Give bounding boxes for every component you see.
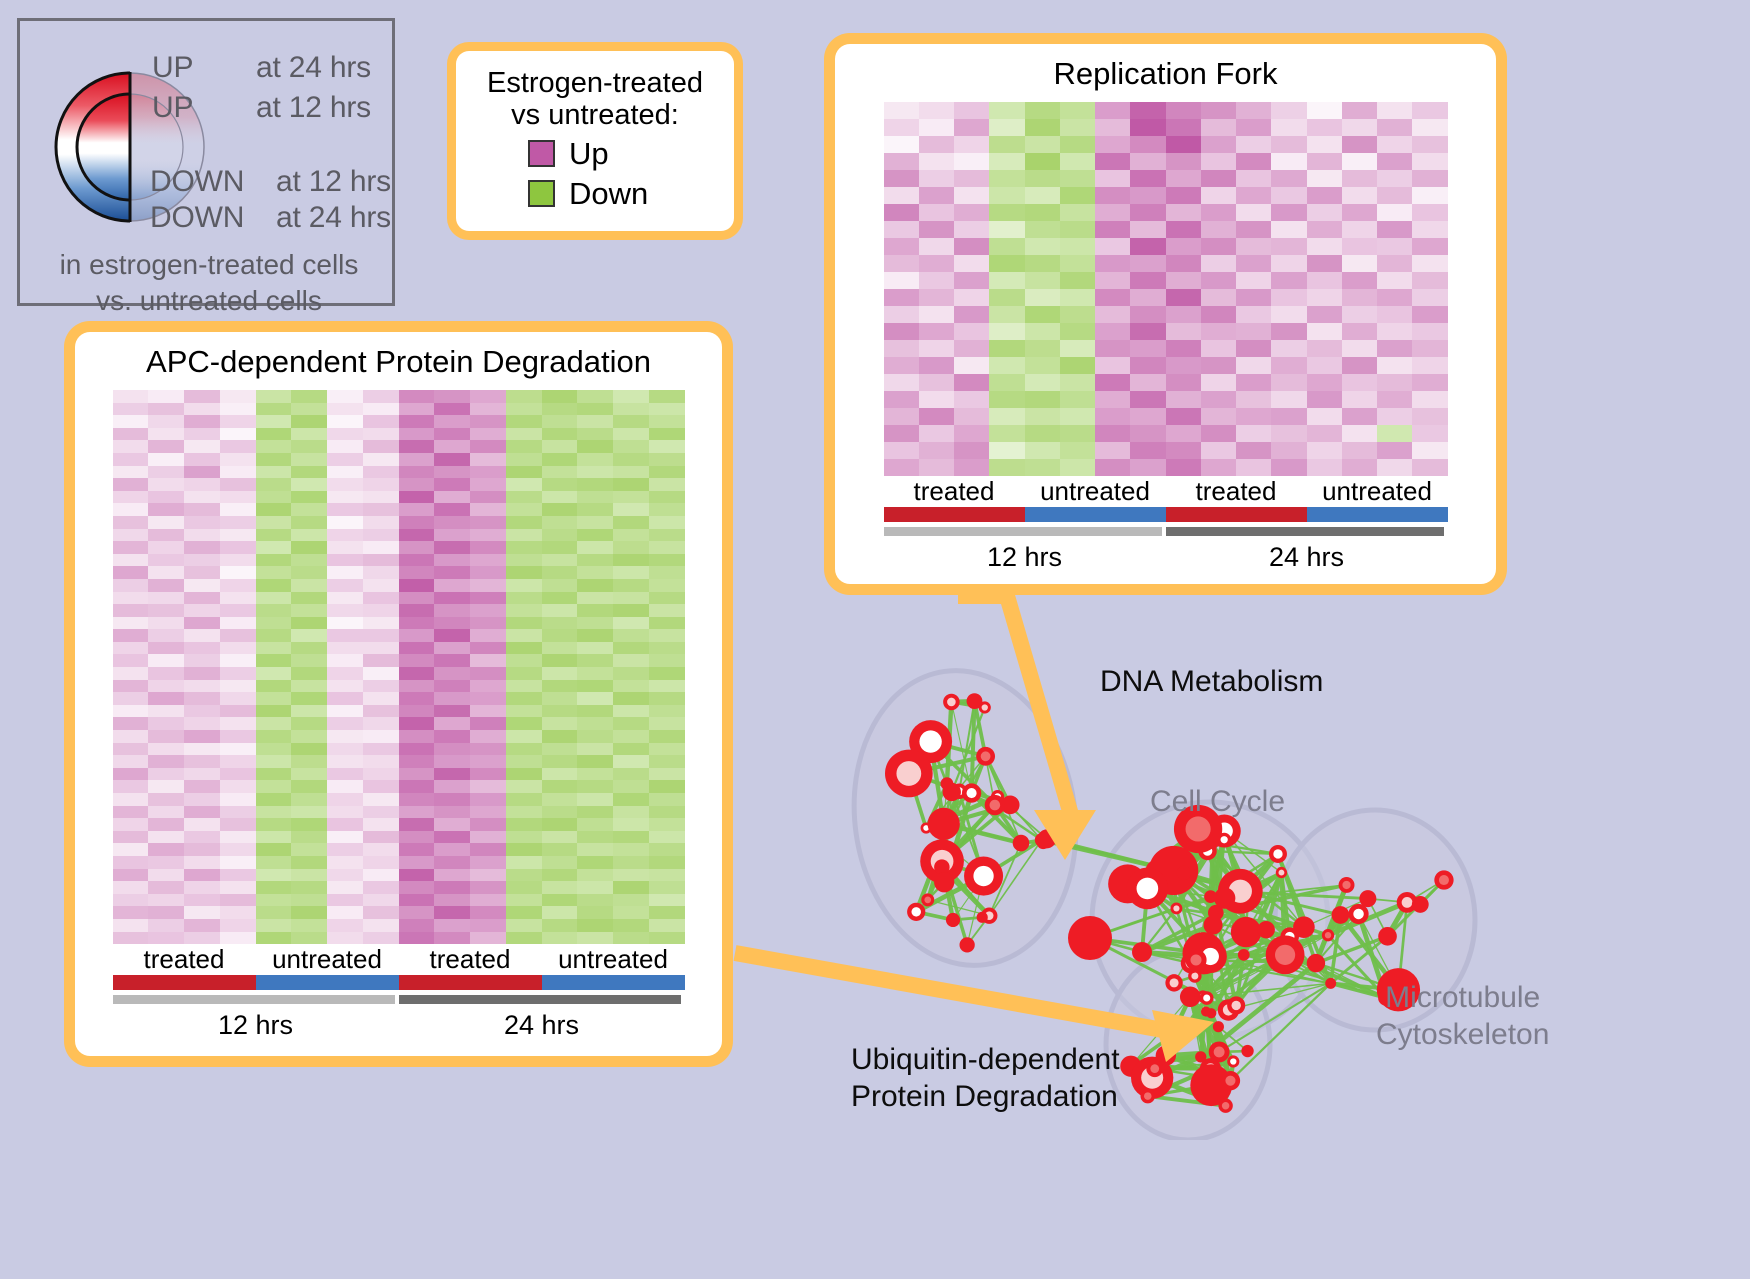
heatmap-cell: [291, 806, 327, 819]
heatmap-cell: [399, 919, 435, 932]
legend-item-up: Up: [528, 136, 720, 172]
heatmap-cell: [1060, 408, 1095, 425]
heatmap-cell: [113, 617, 149, 630]
heatmap-cell: [327, 516, 363, 529]
heatmap-cell: [291, 894, 327, 907]
heatmap-cell: [434, 793, 470, 806]
heatmap-cell: [1307, 136, 1342, 153]
heatmap-cell: [1166, 459, 1201, 476]
heatmap-cell: [399, 705, 435, 718]
heatmap-cell: [1201, 374, 1236, 391]
heatmap-cell: [148, 755, 184, 768]
heatmap-cell: [184, 692, 220, 705]
heatmap-cell: [542, 541, 578, 554]
heatmap-cell: [613, 894, 649, 907]
heatmap-cell: [470, 642, 506, 655]
heatmap-cell: [256, 604, 292, 617]
heatmap-cell: [1166, 408, 1201, 425]
heatmap-cell: [954, 289, 989, 306]
heatmap-cell: [884, 102, 919, 119]
heatmap-cell: [184, 604, 220, 617]
heatmap-cell: [989, 119, 1024, 136]
heatmap-cell: [577, 604, 613, 617]
heatmap-cell: [884, 391, 919, 408]
heatmap-cell: [1025, 187, 1060, 204]
heatmap-cell: [884, 204, 919, 221]
heatmap-cell: [434, 503, 470, 516]
heatmap-cell: [363, 793, 399, 806]
heatmap-cell: [954, 442, 989, 459]
heatmap-cell: [184, 390, 220, 403]
heatmap-cell: [363, 881, 399, 894]
heatmap-cell: [434, 566, 470, 579]
network-node: [1068, 916, 1112, 960]
heatmap-cell: [256, 554, 292, 567]
heatmap-cell: [256, 390, 292, 403]
heatmap-cell: [649, 604, 685, 617]
heatmap-cell: [542, 780, 578, 793]
group-colour-segment: [399, 975, 542, 990]
heatmap-cell: [113, 680, 149, 693]
cluster-label-ubiquitin: Ubiquitin-dependent Protein Degradation: [851, 1042, 1120, 1115]
heatmap-cell: [506, 503, 542, 516]
heatmap-cell: [291, 617, 327, 630]
heatmap-cell: [184, 516, 220, 529]
heatmap-cell: [506, 642, 542, 655]
heatmap-cell: [256, 440, 292, 453]
heatmap-cell: [1307, 306, 1342, 323]
cluster-label-cell-cycle: Cell Cycle: [1150, 785, 1285, 819]
heatmap-cell: [1060, 170, 1095, 187]
heatmap-cell: [919, 102, 954, 119]
heatmap-cell: [148, 831, 184, 844]
heatmap-cell: [577, 415, 613, 428]
network-node: [1307, 954, 1325, 972]
heatmap-cell: [1342, 102, 1377, 119]
heatmap-cell: [1201, 442, 1236, 459]
heatmap-cell: [1201, 340, 1236, 357]
heatmap-cell: [327, 818, 363, 831]
heatmap-cell: [148, 491, 184, 504]
heatmap-cell: [613, 705, 649, 718]
heatmap-cell: [919, 442, 954, 459]
heatmap-cell: [399, 390, 435, 403]
heatmap-cell: [954, 221, 989, 238]
heatmap-cell: [1130, 306, 1165, 323]
heatmap-cell: [363, 654, 399, 667]
heatmap-cell: [919, 374, 954, 391]
heatmap-cell: [184, 793, 220, 806]
heatmap-cell: [363, 755, 399, 768]
heatmap-cell: [434, 730, 470, 743]
heatmap-cell: [1095, 187, 1130, 204]
group-colour-segment: [113, 975, 256, 990]
heatmap-cell: [470, 453, 506, 466]
heatmap-cell: [363, 730, 399, 743]
heatmap-cell: [613, 780, 649, 793]
heatmap-cell: [1412, 357, 1447, 374]
heatmap-cell: [470, 629, 506, 642]
heatmap-cell: [184, 440, 220, 453]
heatmap-cell: [291, 906, 327, 919]
heatmap-cell: [470, 440, 506, 453]
heatmap-cell: [113, 403, 149, 416]
heatmap-cell: [470, 654, 506, 667]
heatmap-cell: [1342, 357, 1377, 374]
heatmap-cell: [1271, 238, 1306, 255]
heatmap-cell: [148, 604, 184, 617]
heatmap-cell: [1166, 374, 1201, 391]
heatmap-cell: [542, 529, 578, 542]
heatmap-cell: [148, 894, 184, 907]
heatmap-cell: [327, 705, 363, 718]
heatmap-cell: [399, 806, 435, 819]
swatch-up-icon: [528, 140, 555, 167]
heatmap-cell: [1201, 425, 1236, 442]
heatmap-cell: [506, 592, 542, 605]
heatmap-cell: [1060, 272, 1095, 289]
heatmap-cell: [220, 554, 256, 567]
heatmap-cell: [291, 717, 327, 730]
heatmap-cell: [256, 692, 292, 705]
heatmap-cell: [220, 629, 256, 642]
heatmap-cell: [919, 408, 954, 425]
heatmap-cell: [220, 617, 256, 630]
heatmap-cell: [220, 793, 256, 806]
heatmap-cell: [1025, 323, 1060, 340]
heatmap-cell: [577, 453, 613, 466]
heatmap-cell: [113, 780, 149, 793]
heatmap-cell: [148, 680, 184, 693]
heatmap-cell: [1166, 272, 1201, 289]
heatmap-cell: [399, 566, 435, 579]
heatmap-cell: [327, 453, 363, 466]
heatmap-cell: [649, 491, 685, 504]
heatmap-cell: [1025, 238, 1060, 255]
heatmap-cell: [434, 705, 470, 718]
heatmap-cell: [577, 654, 613, 667]
cluster-label-microtubule: Microtubule Cytoskeleton: [1376, 980, 1549, 1053]
heatmap-cell: [954, 459, 989, 476]
heatmap-cell: [434, 529, 470, 542]
heatmap-cell: [954, 306, 989, 323]
heatmap-cell: [613, 440, 649, 453]
heatmap-cell: [148, 743, 184, 756]
heatmap-cell: [327, 403, 363, 416]
heatmap-cell: [649, 503, 685, 516]
heatmap-cell: [148, 390, 184, 403]
heatmap-cell: [1025, 425, 1060, 442]
heatmap-cell: [506, 818, 542, 831]
heatmap-cell: [470, 705, 506, 718]
heatmap-cell: [256, 629, 292, 642]
heatmap-cell: [1236, 170, 1271, 187]
group-colourbar-replication-fork: [884, 507, 1448, 522]
heatmap-cell: [220, 503, 256, 516]
heatmap-cell: [399, 932, 435, 945]
heatmap-cell: [256, 403, 292, 416]
timepoint-colour-segment: [399, 995, 681, 1004]
heatmap-cell: [577, 403, 613, 416]
heatmap-cell: [884, 136, 919, 153]
heatmap-cell: [256, 415, 292, 428]
heatmap-cell: [327, 869, 363, 882]
heatmap-cell: [327, 415, 363, 428]
heatmap-cell: [363, 932, 399, 945]
heatmap-cell: [649, 932, 685, 945]
heatmap-cell: [399, 831, 435, 844]
heatmap-cell: [291, 818, 327, 831]
heatmap-cell: [1271, 153, 1306, 170]
heatmap-cell: [1236, 323, 1271, 340]
heatmap-cell: [1130, 255, 1165, 272]
treatment-legend-card: Estrogen-treated vs untreated: Up Down: [447, 42, 743, 240]
heatmap-cell: [506, 869, 542, 882]
heatmap-cell: [363, 428, 399, 441]
heatmap-cell: [327, 466, 363, 479]
group-colourbar-apc: [113, 975, 685, 990]
heatmap-cell: [363, 478, 399, 491]
heatmap-cell: [256, 667, 292, 680]
heatmap-cell: [220, 529, 256, 542]
heatmap-cell: [506, 466, 542, 479]
heatmap-replication-fork: [884, 102, 1448, 476]
heatmap-cell: [434, 894, 470, 907]
heatmap-cell: [434, 717, 470, 730]
heatmap-cell: [1342, 374, 1377, 391]
heatmap-cell: [577, 717, 613, 730]
heatmap-cell: [919, 255, 954, 272]
heatmap-cell: [291, 919, 327, 932]
network-node: [977, 912, 988, 923]
heatmap-cell: [399, 780, 435, 793]
heatmap-cell: [542, 768, 578, 781]
timepoint-label: 24 hrs: [1166, 536, 1448, 573]
heatmap-cell: [649, 629, 685, 642]
network-node-core: [1150, 1064, 1159, 1073]
heatmap-cell: [291, 541, 327, 554]
heatmap-cell: [148, 503, 184, 516]
heatmap-cell: [470, 780, 506, 793]
heatmap-cell: [1377, 459, 1412, 476]
heatmap-cell: [470, 516, 506, 529]
heatmap-cell: [363, 818, 399, 831]
heatmap-cell: [649, 692, 685, 705]
network-node: [1412, 896, 1429, 913]
heatmap-cell: [399, 617, 435, 630]
heatmap-cell: [291, 516, 327, 529]
heatmap-cell: [1271, 391, 1306, 408]
heatmap-cell: [542, 894, 578, 907]
heatmap-cell: [363, 642, 399, 655]
cluster-label-dna-metabolism: DNA Metabolism: [1100, 665, 1323, 699]
heatmap-cell: [220, 453, 256, 466]
heatmap-cell: [577, 529, 613, 542]
heatmap-cell: [113, 818, 149, 831]
heatmap-cell: [613, 554, 649, 567]
legend-row-3-time: at 24 hrs: [276, 201, 391, 235]
legend-item-down-label: Down: [569, 176, 648, 212]
network-node: [1359, 890, 1376, 907]
heatmap-cell: [399, 440, 435, 453]
heatmap-cell: [434, 478, 470, 491]
heatmap-cell: [291, 680, 327, 693]
heatmap-cell: [954, 170, 989, 187]
heatmap-cell: [220, 403, 256, 416]
heatmap-cell: [1342, 272, 1377, 289]
heatmap-cell: [327, 541, 363, 554]
network-node-core: [924, 897, 931, 904]
heatmap-cell: [506, 932, 542, 945]
heatmap-cell: [256, 793, 292, 806]
heatmap-cell: [1025, 255, 1060, 272]
heatmap-cell: [399, 592, 435, 605]
heatmap-cell: [649, 516, 685, 529]
heatmap-cell: [649, 667, 685, 680]
timepoint-colour-segment: [113, 995, 395, 1004]
heatmap-cell: [1412, 170, 1447, 187]
heatmap-cell: [184, 932, 220, 945]
heatmap-cell: [542, 617, 578, 630]
heatmap-cell: [1271, 340, 1306, 357]
heatmap-cell: [470, 806, 506, 819]
heatmap-cell: [256, 818, 292, 831]
heatmap-cell: [434, 516, 470, 529]
heatmap-cell: [1130, 187, 1165, 204]
heatmap-cell: [363, 768, 399, 781]
heatmap-cell: [399, 667, 435, 680]
heatmap-cell: [1166, 306, 1201, 323]
heatmap-cell: [577, 705, 613, 718]
heatmap-cell: [1236, 153, 1271, 170]
group-colour-segment: [1166, 507, 1307, 522]
heatmap-cell: [184, 529, 220, 542]
treatment-legend-title-line2: vs untreated:: [470, 99, 720, 131]
heatmap-cell: [1130, 272, 1165, 289]
heatmap-cell: [884, 340, 919, 357]
heatmap-cell: [184, 856, 220, 869]
network-node-core: [1221, 836, 1228, 843]
heatmap-cell: [1095, 289, 1130, 306]
heatmap-cell: [1166, 425, 1201, 442]
heatmap-cell: [1060, 391, 1095, 408]
heatmap-cell: [113, 692, 149, 705]
heatmap-cell: [399, 516, 435, 529]
heatmap-cell: [363, 415, 399, 428]
heatmap-cell: [919, 323, 954, 340]
heatmap-cell: [113, 806, 149, 819]
network-node-core: [990, 800, 1001, 811]
heatmap-cell: [1201, 306, 1236, 323]
heatmap-cell: [649, 881, 685, 894]
heatmap-cell: [184, 466, 220, 479]
heatmap-cell: [148, 478, 184, 491]
heatmap-cell: [1271, 136, 1306, 153]
heatmap-cell: [649, 566, 685, 579]
heatmap-cell: [184, 629, 220, 642]
heatmap-cell: [220, 856, 256, 869]
heatmap-cell: [327, 428, 363, 441]
heatmap-cell: [363, 906, 399, 919]
heatmap-cell: [434, 453, 470, 466]
heatmap-cell: [291, 654, 327, 667]
heatmap-cell: [470, 881, 506, 894]
heatmap-cell: [1307, 408, 1342, 425]
heatmap-cell: [1377, 153, 1412, 170]
heatmap-cell: [363, 403, 399, 416]
heatmap-cell: [613, 793, 649, 806]
heatmap-cell: [1377, 374, 1412, 391]
heatmap-cell: [506, 440, 542, 453]
heatmap-cell: [577, 843, 613, 856]
heatmap-cell: [1342, 459, 1377, 476]
heatmap-cell: [1412, 187, 1447, 204]
heatmap-cell: [470, 478, 506, 491]
heatmap-cell: [327, 806, 363, 819]
heatmap-cell: [1342, 408, 1377, 425]
heatmap-cell: [220, 604, 256, 617]
heatmap-cell: [649, 478, 685, 491]
heatmap-cell: [363, 491, 399, 504]
heatmap-apc-annotations: treateduntreatedtreateduntreated 12 hrs2…: [113, 944, 685, 1041]
heatmap-cell: [884, 238, 919, 255]
heatmap-cell: [989, 238, 1024, 255]
heatmap-cell: [919, 289, 954, 306]
timepoint-labels-replication-fork: 12 hrs24 hrs: [884, 536, 1448, 573]
heatmap-cell: [220, 906, 256, 919]
heatmap-cell: [434, 541, 470, 554]
heatmap-cell: [542, 743, 578, 756]
timepoint-label: 12 hrs: [113, 1004, 399, 1041]
heatmap-cell: [954, 340, 989, 357]
heatmap-cell: [1166, 221, 1201, 238]
heatmap-cell: [184, 705, 220, 718]
heatmap-cell: [577, 554, 613, 567]
heatmap-cell: [113, 730, 149, 743]
heatmap-cell: [1307, 374, 1342, 391]
heatmap-cell: [148, 692, 184, 705]
heatmap-cell: [399, 768, 435, 781]
heatmap-cell: [399, 428, 435, 441]
heatmap-cell: [470, 617, 506, 630]
heatmap-cell: [1095, 459, 1130, 476]
heatmap-cell: [256, 932, 292, 945]
heatmap-cell: [506, 453, 542, 466]
heatmap-cell: [613, 755, 649, 768]
heatmap-cell: [220, 466, 256, 479]
heatmap-cell: [613, 831, 649, 844]
heatmap-cell: [1095, 170, 1130, 187]
heatmap-cell: [884, 255, 919, 272]
heatmap-cell: [1095, 340, 1130, 357]
heatmap-cell: [327, 554, 363, 567]
heatmap-cell: [506, 478, 542, 491]
heatmap-cell: [542, 491, 578, 504]
heatmap-cell: [113, 743, 149, 756]
heatmap-cell: [1130, 221, 1165, 238]
heatmap-cell: [148, 579, 184, 592]
heatmap-cell: [613, 491, 649, 504]
heatmap-cell: [1307, 442, 1342, 459]
heatmap-cell: [327, 793, 363, 806]
heatmap-cell: [1377, 204, 1412, 221]
network-node-core: [982, 704, 988, 710]
heatmap-cell: [506, 919, 542, 932]
heatmap-cell: [1342, 238, 1377, 255]
heatmap-cell: [327, 579, 363, 592]
heatmap-cell: [577, 806, 613, 819]
network-node-core: [1190, 954, 1201, 965]
